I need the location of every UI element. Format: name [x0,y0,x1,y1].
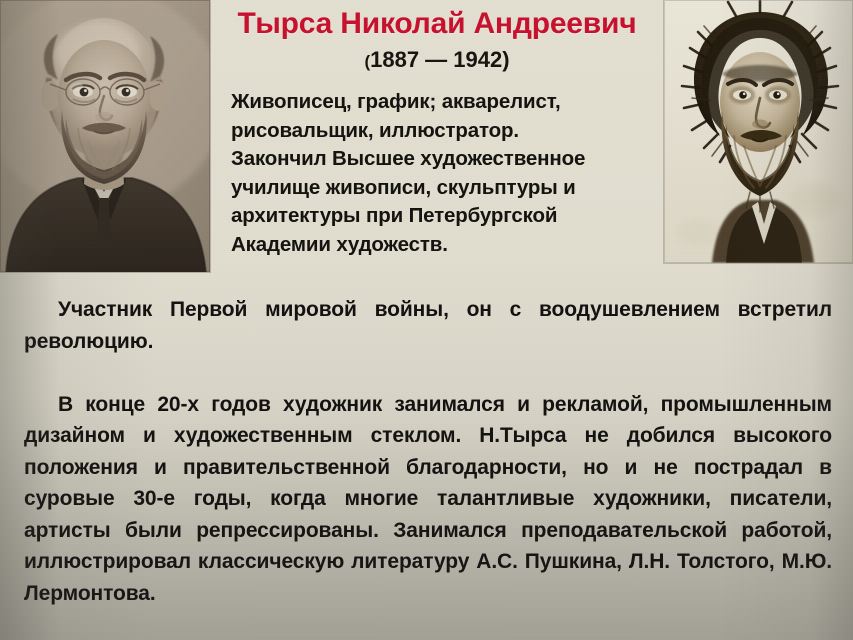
body-paragraph-1: Участник Первой мировой войны, он с воод… [24,294,832,389]
watercolor-self-portrait [664,0,853,263]
body-paragraph-2: В конце 20-х годов художник занимался и … [24,389,832,640]
intro-line-3: Закончил Высшее художественное [231,145,663,174]
intro-line-2: рисовальщик, иллюстратор. [231,117,663,146]
intro-block: Живописец, график; акварелист, рисовальщ… [231,88,663,259]
slide-canvas: Тырса Николай Андреевич (1887 — 1942) Жи… [0,0,853,640]
intro-line-1: Живописец, график; акварелист, [231,88,663,117]
intro-line-6: Академии художеств. [231,231,663,260]
intro-line-5: архитектуры при Петербургской [231,202,663,231]
life-dates: (1887 — 1942) [212,46,662,76]
body-text: Участник Первой мировой войны, он с воод… [24,294,832,640]
page-title: Тырса Николай Андреевич [212,6,662,42]
intro-line-4: училище живописи, скульптуры и [231,174,663,203]
life-dates-value: 1887 — 1942) [370,47,509,72]
portrait-photograph-sepia [0,0,210,272]
